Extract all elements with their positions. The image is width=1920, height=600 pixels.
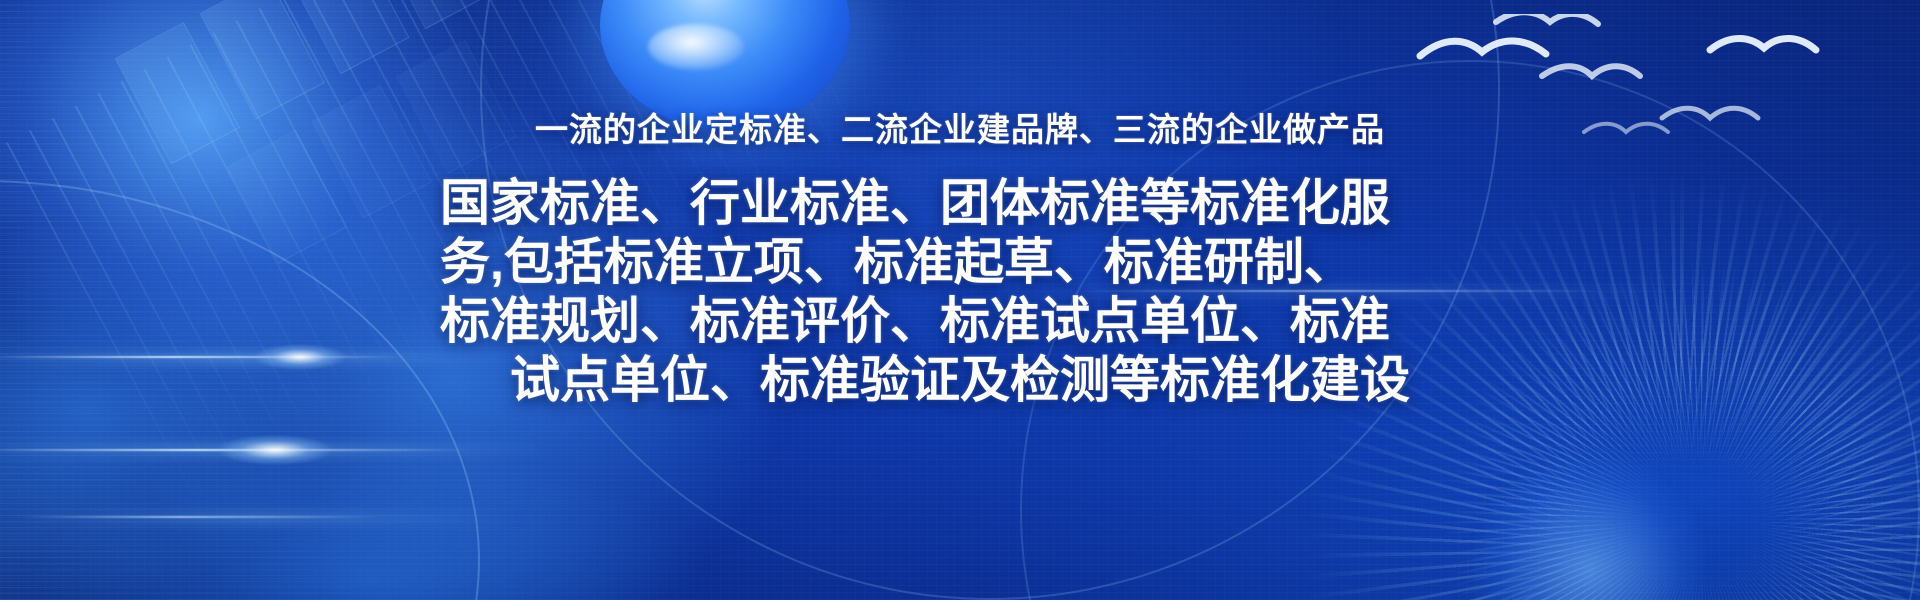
headline-line-1: 国家标准、行业标准、团体标准等标准化服 [440, 174, 1480, 233]
headline-line-3: 标准规划、标准评价、标准试点单位、标准 [440, 292, 1480, 351]
light-streak-icon [20, 516, 380, 518]
light-streak-glow-icon [200, 430, 350, 470]
banner-root: 一流的企业定标准、二流企业建品牌、三流的企业做产品 国家标准、行业标准、团体标准… [0, 0, 1920, 600]
headline-line-4: 试点单位、标准验证及检测等标准化建设 [440, 351, 1480, 410]
banner-headline: 国家标准、行业标准、团体标准等标准化服 务,包括标准立项、标准起草、标准研制、 … [440, 148, 1480, 410]
banner-subtitle: 一流的企业定标准、二流企业建品牌、三流的企业做产品 [0, 0, 1920, 148]
banner-content: 一流的企业定标准、二流企业建品牌、三流的企业做产品 国家标准、行业标准、团体标准… [0, 0, 1920, 410]
headline-line-2: 务,包括标准立项、标准起草、标准研制、 [440, 233, 1480, 292]
light-streak-icon [0, 512, 520, 524]
